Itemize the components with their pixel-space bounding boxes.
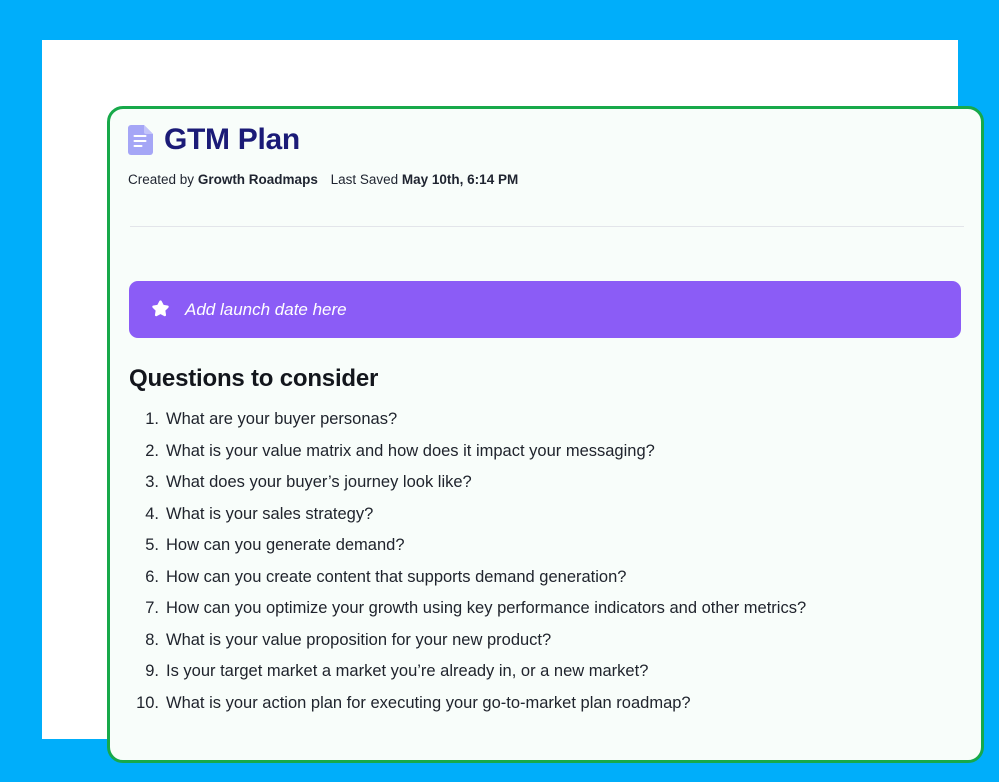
list-item-number: 2. [129,443,166,460]
list-item-number: 3. [129,474,166,491]
list-item-number: 10. [129,695,166,712]
document-icon [128,125,153,155]
list-item-text: How can you generate demand? [166,537,405,554]
list-item-number: 5. [129,537,166,554]
last-saved-label: Last Saved [331,172,399,187]
created-by-value: Growth Roadmaps [198,172,318,187]
list-item: 1.What are your buyer personas? [129,411,967,443]
list-item-text: What does your buyer’s journey look like… [166,474,472,491]
last-saved-value: May 10th, 6:14 PM [402,172,518,187]
list-item-text: How can you optimize your growth using k… [166,600,806,617]
questions-section: Questions to consider 1.What are your bu… [129,365,967,726]
list-item-text: What is your value proposition for your … [166,632,551,649]
launch-date-banner[interactable]: Add launch date here [129,281,961,338]
title-row: GTM Plan [128,120,981,160]
list-item: 10.What is your action plan for executin… [129,695,967,727]
list-item-text: What is your action plan for executing y… [166,695,691,712]
list-item: 9.Is your target market a market you’re … [129,663,967,695]
list-item-text: What are your buyer personas? [166,411,397,428]
document-header: GTM Plan Created by Growth Roadmaps Last… [110,109,981,188]
list-item: 2.What is your value matrix and how does… [129,443,967,475]
document-meta: Created by Growth Roadmaps Last Saved Ma… [128,172,981,188]
header-divider [130,226,964,227]
star-icon [150,299,171,320]
list-item-number: 8. [129,632,166,649]
page-card: GTM Plan Created by Growth Roadmaps Last… [42,40,958,739]
document-frame: GTM Plan Created by Growth Roadmaps Last… [107,106,984,763]
list-item: 6.How can you create content that suppor… [129,569,967,601]
list-item-text: Is your target market a market you’re al… [166,663,648,680]
list-item: 3.What does your buyer’s journey look li… [129,474,967,506]
list-item-text: What is your value matrix and how does i… [166,443,655,460]
page-title: GTM Plan [164,125,300,155]
list-item-text: What is your sales strategy? [166,506,373,523]
list-item-number: 1. [129,411,166,428]
list-item-text: How can you create content that supports… [166,569,626,586]
list-item: 5.How can you generate demand? [129,537,967,569]
list-item: 7.How can you optimize your growth using… [129,600,967,632]
created-by-label: Created by [128,172,194,187]
list-item: 8.What is your value proposition for you… [129,632,967,664]
list-item: 4.What is your sales strategy? [129,506,967,538]
launch-date-placeholder-text: Add launch date here [185,301,347,318]
list-item-number: 9. [129,663,166,680]
questions-heading: Questions to consider [129,365,967,393]
questions-list: 1.What are your buyer personas?2.What is… [129,411,967,726]
list-item-number: 6. [129,569,166,586]
list-item-number: 4. [129,506,166,523]
list-item-number: 7. [129,600,166,617]
